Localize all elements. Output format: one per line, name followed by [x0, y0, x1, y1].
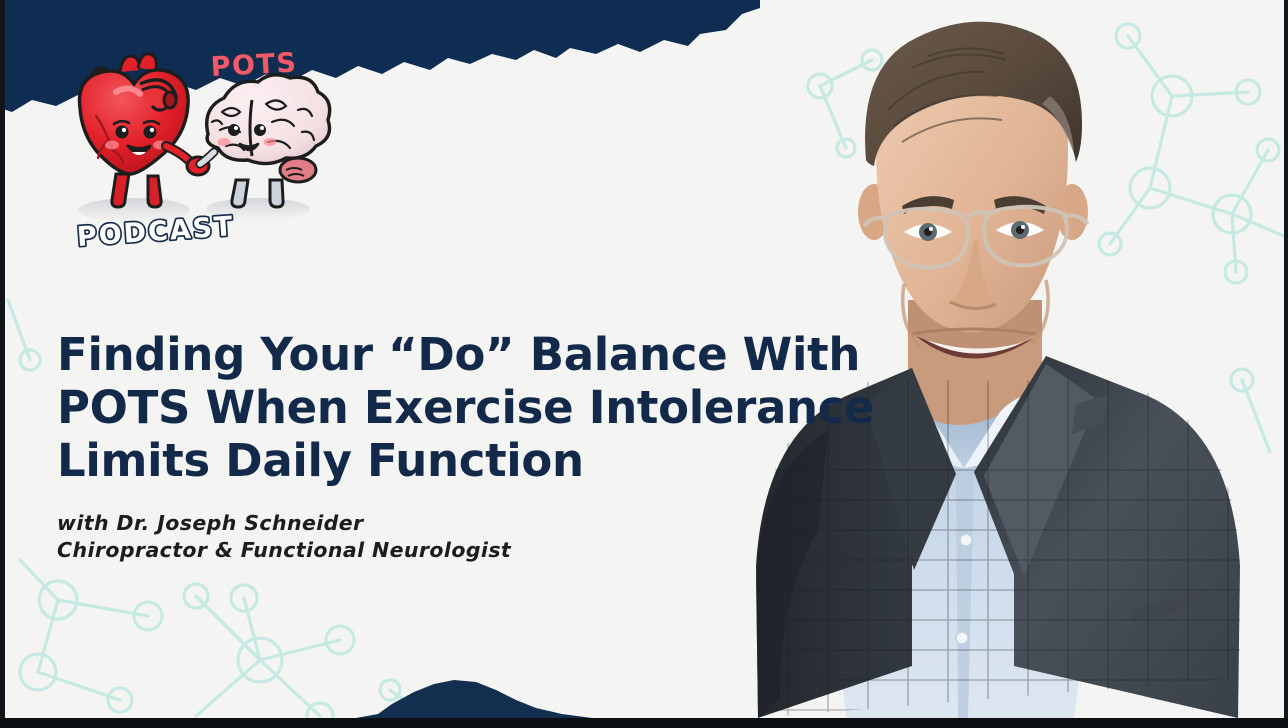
pots-text: POTS: [210, 47, 298, 82]
title-line-2: POTS When Exercise Intolerance: [57, 381, 777, 434]
guest-credentials: Chiropractor & Functional Neurologist: [57, 537, 511, 564]
guest-name: with Dr. Joseph Schneider: [57, 510, 511, 537]
episode-cover: POTS PODCAST Finding Your “Do” Balance W…: [0, 0, 1288, 728]
frame-edge-right: [1284, 0, 1288, 728]
frame-edge-bottom: [0, 718, 1288, 728]
heart-eye-left: [116, 126, 129, 139]
heart-eye-right: [144, 126, 157, 139]
podcast-logo: POTS PODCAST: [62, 46, 352, 261]
guest-byline: with Dr. Joseph Schneider Chiropractor &…: [57, 510, 511, 564]
logo-pots-text: POTS: [210, 47, 298, 82]
brain-eye-left: [228, 124, 240, 136]
shirt-button-2: [956, 632, 968, 644]
brain-character: [200, 75, 330, 207]
shirt-button-1: [960, 534, 972, 546]
frame-edge-left: [0, 0, 5, 728]
episode-title: Finding Your “Do” Balance With POTS When…: [57, 328, 777, 487]
heart-character: [79, 54, 209, 207]
brain-eye-right: [254, 124, 266, 136]
bottom-navy-bump: [330, 674, 650, 720]
title-line-1: Finding Your “Do” Balance With: [57, 328, 777, 381]
title-line-3: Limits Daily Function: [57, 434, 777, 487]
